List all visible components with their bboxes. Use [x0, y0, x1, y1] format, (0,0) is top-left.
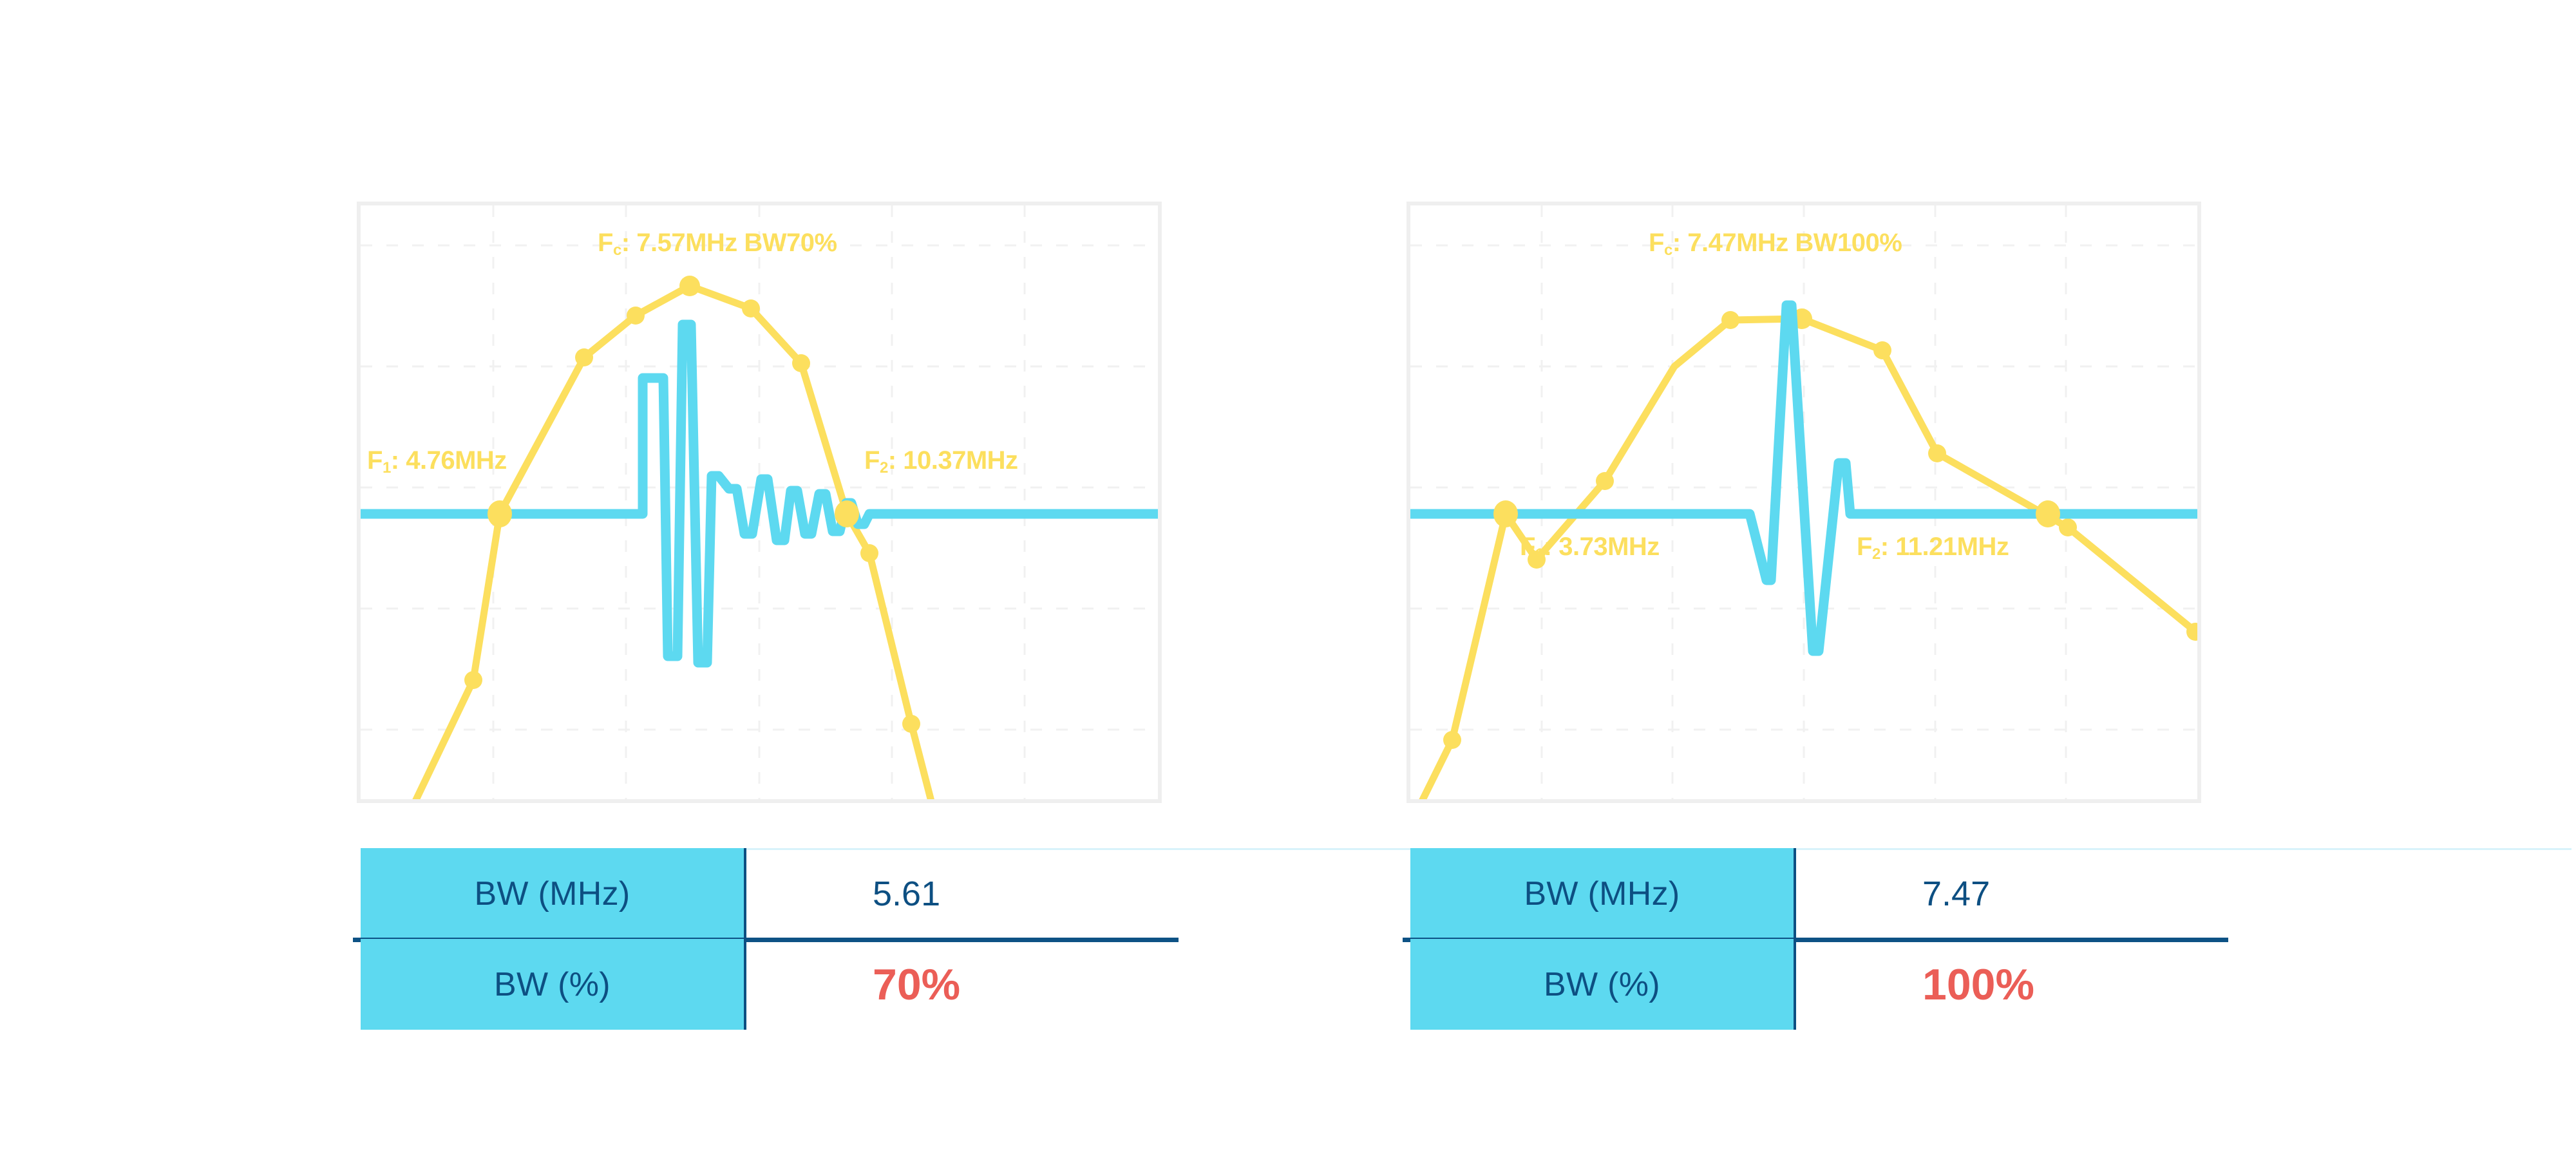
- label-f1-symbol: F: [367, 446, 383, 475]
- label-center-text: : 7.47MHz BW100%: [1672, 229, 1902, 257]
- table-row: BW (MHz) 5.61: [361, 848, 1182, 939]
- table-column-divider: [744, 848, 746, 1030]
- label-f2-sub: 2: [880, 459, 888, 477]
- label-center-sub: c: [613, 241, 621, 259]
- bw-mhz-label: BW (MHz): [1410, 848, 1794, 939]
- label-f1-sub: 1: [383, 459, 391, 477]
- table-column-divider: [1794, 848, 1796, 1030]
- label-f2-left: F2: 10.37MHz: [864, 446, 1018, 477]
- bw-mhz-label: BW (MHz): [361, 848, 744, 939]
- label-center-text: : 7.57MHz BW70%: [621, 229, 837, 257]
- panel-left: Fc: 7.57MHz BW70% F1: 4.76MHz F2: 10.37M…: [0, 0, 1288, 1154]
- marker-f2: [835, 500, 859, 527]
- bw-table-left: BW (MHz) 5.61 BW (%) 70%: [361, 848, 1182, 1030]
- plot-frame-right: Fc: 7.47MHz BW100% F1: 3.73MHz F2: 11.21…: [1406, 202, 2201, 803]
- panel-right: Fc: 7.47MHz BW100% F1: 3.73MHz F2: 11.21…: [1288, 0, 2576, 1154]
- spectrum-chart-left: [361, 205, 1158, 799]
- label-f1-sub: 1: [1535, 545, 1544, 563]
- marker-f1: [488, 500, 512, 527]
- label-f2-text: : 11.21MHz: [1880, 533, 2009, 561]
- label-f2-sub: 2: [1872, 545, 1880, 563]
- table-row: BW (%) 100%: [1410, 939, 2231, 1030]
- table-row: BW (%) 70%: [361, 939, 1182, 1030]
- bw-pct-label: BW (%): [1410, 939, 1794, 1030]
- label-center-symbol: F: [1649, 229, 1664, 257]
- plot-frame-left: Fc: 7.57MHz BW70% F1: 4.76MHz F2: 10.37M…: [357, 202, 1162, 803]
- marker-f2: [2036, 500, 2060, 527]
- label-f2-right: F2: 11.21MHz: [1857, 533, 2009, 563]
- label-f1-text: : 4.76MHz: [391, 446, 507, 475]
- label-f1-right: F1: 3.73MHz: [1520, 533, 1660, 563]
- label-center-right: Fc: 7.47MHz BW100%: [1649, 229, 1902, 260]
- label-f2-symbol: F: [1857, 533, 1872, 561]
- label-f1-left: F1: 4.76MHz: [367, 446, 507, 477]
- label-center-left: Fc: 7.57MHz BW70%: [598, 229, 837, 260]
- bw-pct-value: 100%: [1794, 939, 2231, 1030]
- label-f1-text: : 3.73MHz: [1544, 533, 1660, 561]
- bw-pct-value: 70%: [744, 939, 1182, 1030]
- table-row: BW (MHz) 7.47: [1410, 848, 2231, 939]
- bw-pct-label: BW (%): [361, 939, 744, 1030]
- marker-f1: [1493, 500, 1518, 527]
- label-center-sub: c: [1664, 241, 1672, 259]
- label-center-symbol: F: [598, 229, 613, 257]
- spectrum-markers-yellow: [1443, 308, 2197, 749]
- label-f2-text: : 10.37MHz: [888, 446, 1018, 475]
- label-f1-symbol: F: [1520, 533, 1535, 561]
- pulse-waveform-cyan: [361, 325, 1158, 663]
- bw-table-right: BW (MHz) 7.47 BW (%) 100%: [1410, 848, 2231, 1030]
- bw-mhz-value: 5.61: [744, 848, 1182, 939]
- spectrum-chart-right: [1410, 205, 2197, 799]
- bw-mhz-value: 7.47: [1794, 848, 2231, 939]
- label-f2-symbol: F: [864, 446, 880, 475]
